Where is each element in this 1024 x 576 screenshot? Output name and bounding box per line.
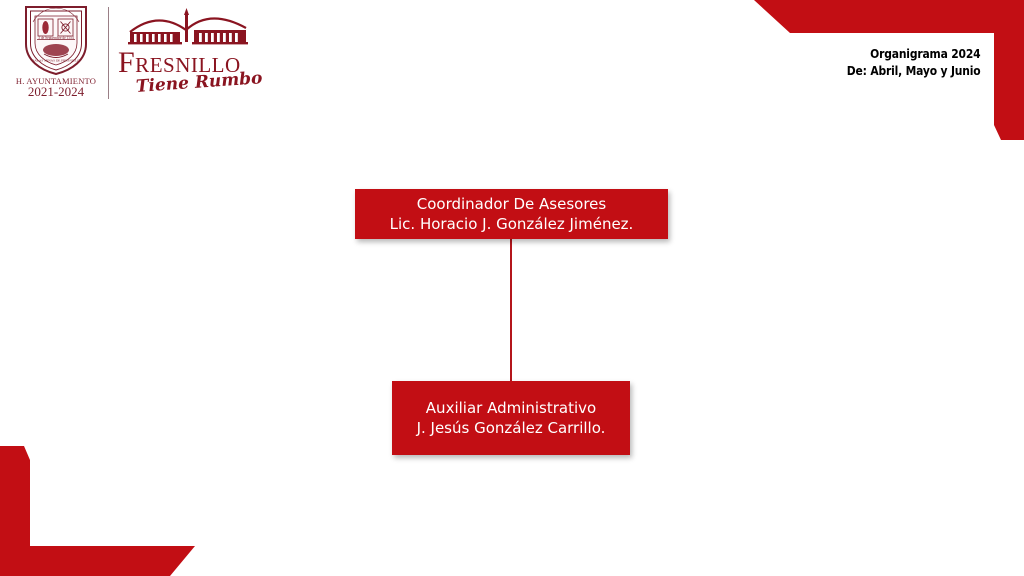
slide-canvas: 3 de Septiembre de 1554 SALAS MINAS DE F… <box>0 0 1024 576</box>
org-connector-line <box>510 239 512 381</box>
org-chart: Coordinador De Asesores Lic. Horacio J. … <box>0 0 1024 576</box>
org-node-coordinador-person: Lic. Horacio J. González Jiménez. <box>390 214 634 234</box>
org-node-auxiliar[interactable]: Auxiliar Administrativo J. Jesús Gonzále… <box>392 381 630 455</box>
org-node-auxiliar-role: Auxiliar Administrativo <box>426 398 596 418</box>
org-node-coordinador[interactable]: Coordinador De Asesores Lic. Horacio J. … <box>355 189 668 239</box>
org-node-coordinador-role: Coordinador De Asesores <box>417 194 606 214</box>
org-node-auxiliar-person: J. Jesús González Carrillo. <box>417 418 606 438</box>
